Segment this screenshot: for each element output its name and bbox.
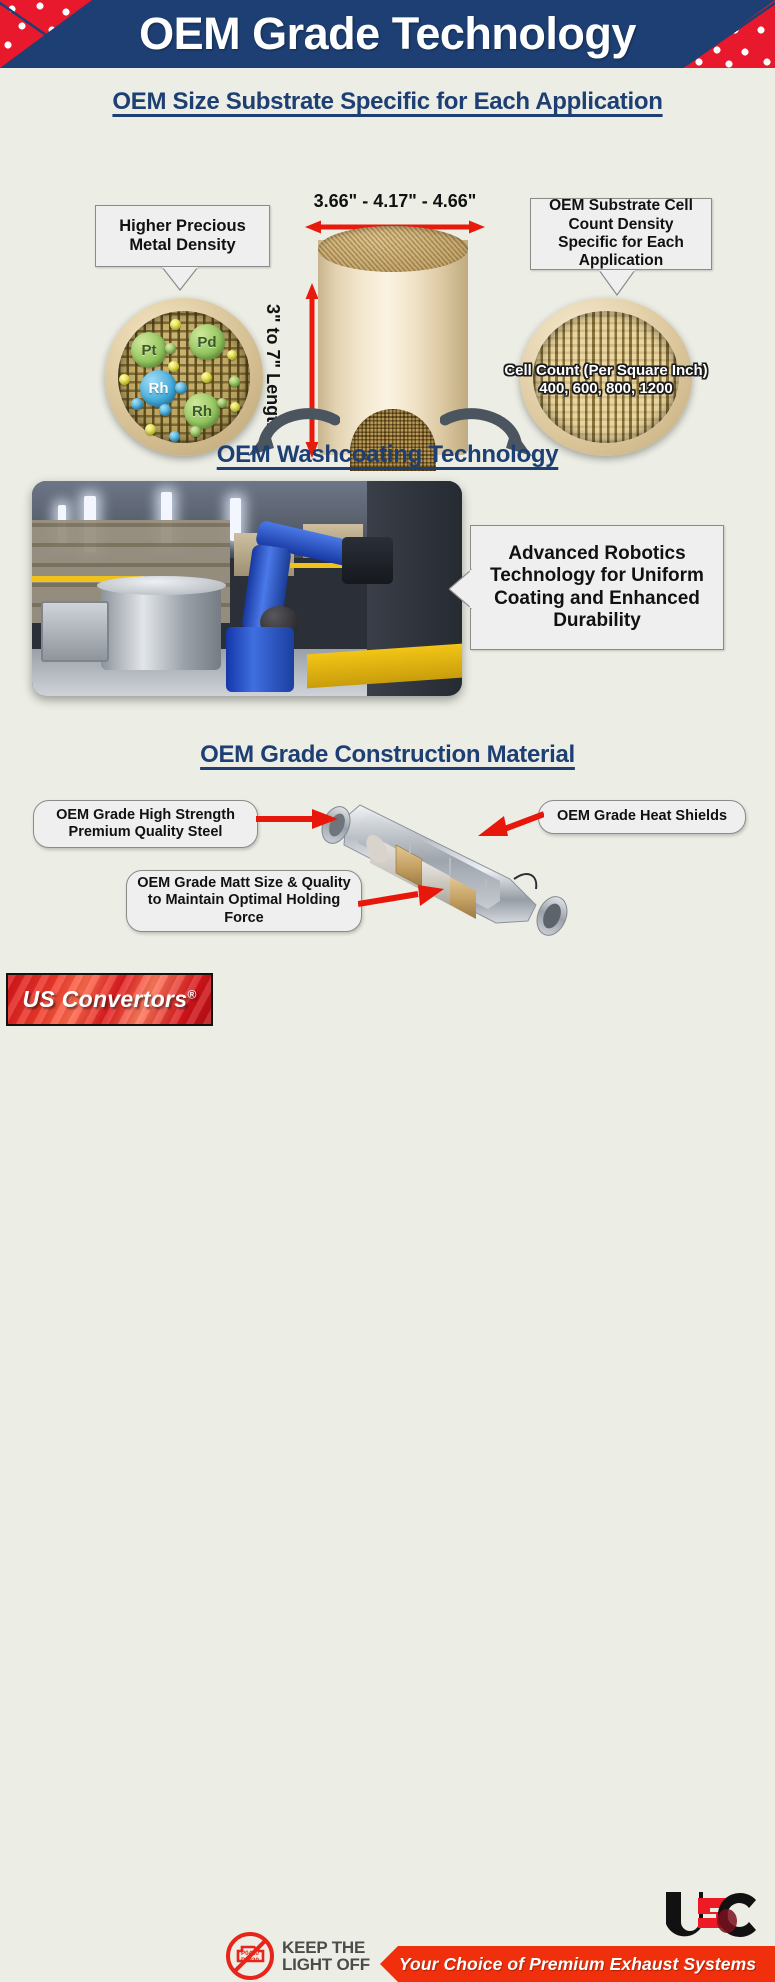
callout-advanced-robotics: Advanced Robotics Technology for Uniform… <box>470 525 724 650</box>
arrow-to-steel-icon <box>256 808 338 830</box>
cell-count-title: Cell Count (Per Square Inch) <box>496 362 716 380</box>
photo-drum-top <box>97 576 226 595</box>
section-washcoating: OEM Washcoating Technology Advanced Robo… <box>0 425 775 715</box>
particle-dot <box>229 376 240 387</box>
callout-text: OEM Grade Matt Size & Quality to Maintai… <box>135 875 353 927</box>
photo-robot-base <box>226 627 295 692</box>
particle-dot <box>131 398 143 410</box>
us-convertors-logo-banner[interactable]: US Convertors® <box>6 973 213 1026</box>
arrow-to-heat-shields-icon <box>478 808 544 838</box>
keep-off-line2: LIGHT OFF <box>282 1956 370 1973</box>
metal-bubble-rh-blue: Rh <box>140 370 177 407</box>
particle-dot <box>165 343 176 354</box>
cylinder-honeycomb-top <box>318 226 468 272</box>
page-header: OEM Grade Technology <box>0 0 775 68</box>
tagline-banner: Your Choice of Premium Exhaust Systems <box>380 1946 775 1982</box>
usc-logo-icon[interactable] <box>660 1888 765 1943</box>
callout-text: OEM Grade Heat Shields <box>557 808 727 825</box>
callout-tail-icon <box>595 270 639 296</box>
particle-dot <box>230 402 240 412</box>
keep-off-line1: KEEP THE <box>282 1939 370 1956</box>
cell-count-caption: Cell Count (Per Square Inch) 400, 600, 8… <box>496 362 716 399</box>
metal-bubble-pd: Pd <box>189 324 225 360</box>
particle-dot <box>159 404 171 416</box>
particle-dot <box>170 319 181 330</box>
page-title: OEM Grade Technology <box>0 0 775 68</box>
photo-control-console <box>41 601 110 661</box>
brand-text: US Convertors <box>22 986 187 1012</box>
metal-symbol: Rh <box>192 403 212 420</box>
metal-symbol: Pd <box>197 334 216 351</box>
particle-dot <box>201 372 212 383</box>
callout-tail-icon <box>158 267 202 291</box>
callout-text: OEM Grade High Strength Premium Quality … <box>42 807 249 842</box>
particle-dot <box>175 382 187 394</box>
metal-symbol: Pt <box>142 342 157 359</box>
no-check-engine-light-icon: P0420 P0430 <box>225 1931 275 1981</box>
particle-dot <box>119 374 130 385</box>
particle-dot <box>227 350 237 360</box>
callout-text: Higher Precious Metal Density <box>104 217 261 256</box>
callout-heat-shields: OEM Grade Heat Shields <box>538 800 746 834</box>
substrate-width-label: 3.66" - 4.17" - 4.66" <box>280 191 510 212</box>
registered-mark: ® <box>187 987 196 1001</box>
particle-dot <box>168 361 179 372</box>
factory-robot-photo <box>32 481 462 696</box>
section-substrate: OEM Size Substrate Specific for Each App… <box>0 68 775 420</box>
section-washcoating-heading: OEM Washcoating Technology <box>0 441 775 469</box>
metal-bubble-rh-green: Rh <box>184 393 220 429</box>
tagline-text: Your Choice of Premium Exhaust Systems <box>399 1954 756 1975</box>
metal-symbol: Rh <box>149 380 169 397</box>
callout-text: Advanced Robotics Technology for Uniform… <box>481 543 713 633</box>
section-substrate-heading: OEM Size Substrate Specific for Each App… <box>0 88 775 116</box>
arrow-to-matt-icon <box>358 885 444 911</box>
section-construction-heading: OEM Grade Construction Material <box>0 741 775 769</box>
callout-text: OEM Substrate Cell Count Density Specifi… <box>539 197 703 270</box>
keep-the-light-off-badge: P0420 P0430 KEEP THE LIGHT OFF <box>225 1930 385 1982</box>
callout-higher-precious-metal-density: Higher Precious Metal Density <box>95 205 270 267</box>
brand-name: US Convertors® <box>22 986 196 1013</box>
cell-count-values: 400, 600, 800, 1200 <box>496 380 716 398</box>
photo-coating-drum <box>101 584 221 670</box>
callout-tail-icon <box>449 568 472 610</box>
callout-premium-quality-steel: OEM Grade High Strength Premium Quality … <box>33 800 258 848</box>
keep-off-text: KEEP THE LIGHT OFF <box>282 1939 370 1974</box>
page-footer: US Convertors® P0420 P0430 KEEP THE LIGH… <box>0 955 775 1034</box>
callout-matt-holding-force: OEM Grade Matt Size & Quality to Maintai… <box>126 870 362 932</box>
particle-dot <box>217 398 227 408</box>
photo-robot-end-effector <box>342 537 394 584</box>
callout-substrate-cell-count-density: OEM Substrate Cell Count Density Specifi… <box>530 198 712 270</box>
metal-bubble-pt: Pt <box>131 332 167 368</box>
